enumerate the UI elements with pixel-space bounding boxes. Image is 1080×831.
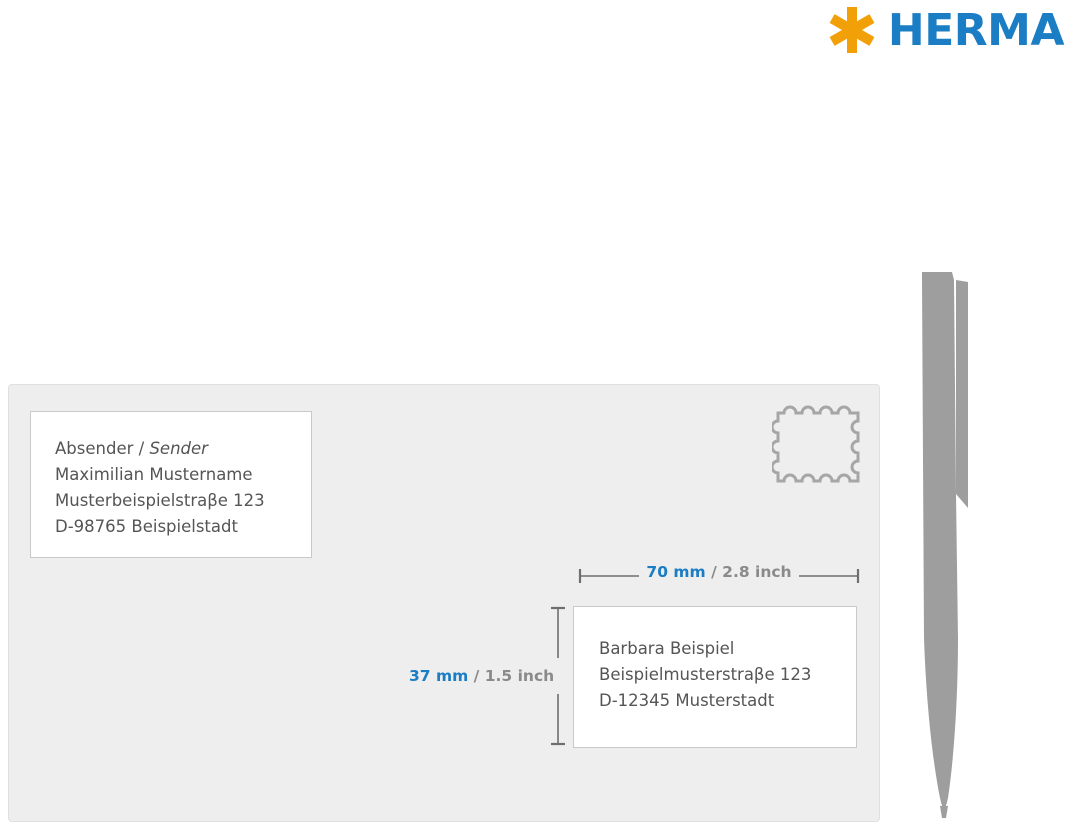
width-separator: / bbox=[706, 563, 722, 581]
sender-label-italic: Sender bbox=[149, 439, 208, 458]
sender-address-box: Absender / Sender Maximilian Mustername … bbox=[30, 411, 312, 558]
recipient-address-box: Barbara Beispiel Beispielmusterstraβe 12… bbox=[573, 606, 857, 748]
asterisk-icon bbox=[826, 4, 878, 56]
ballpoint-pen-icon bbox=[900, 258, 1010, 818]
recipient-line-1: Barbara Beispiel bbox=[599, 636, 856, 662]
sender-line-1: Absender / Sender bbox=[55, 436, 311, 462]
sender-label: Absender / bbox=[55, 439, 149, 458]
width-metric-value: 70 mm bbox=[646, 563, 705, 581]
envelope: Absender / Sender Maximilian Mustername … bbox=[8, 384, 880, 822]
height-metric-value: 37 mm bbox=[409, 667, 468, 685]
recipient-line-3: D-12345 Musterstadt bbox=[599, 688, 856, 714]
herma-logo: HERMA bbox=[826, 4, 1064, 56]
height-dimension-label: 37 mm / 1.5 inch bbox=[409, 667, 549, 685]
brand-name: HERMA bbox=[888, 9, 1064, 53]
height-imperial-value: 1.5 inch bbox=[485, 667, 554, 685]
recipient-line-2: Beispielmusterstraβe 123 bbox=[599, 662, 856, 688]
sender-line-4: D-98765 Beispielstadt bbox=[55, 514, 311, 540]
height-separator: / bbox=[468, 667, 484, 685]
width-imperial-value: 2.8 inch bbox=[722, 563, 791, 581]
sender-line-2: Maximilian Mustername bbox=[55, 462, 311, 488]
postage-stamp-icon bbox=[772, 403, 868, 489]
width-dimension-label: 70 mm / 2.8 inch bbox=[571, 563, 867, 581]
sender-line-3: Musterbeispielstraβe 123 bbox=[55, 488, 311, 514]
